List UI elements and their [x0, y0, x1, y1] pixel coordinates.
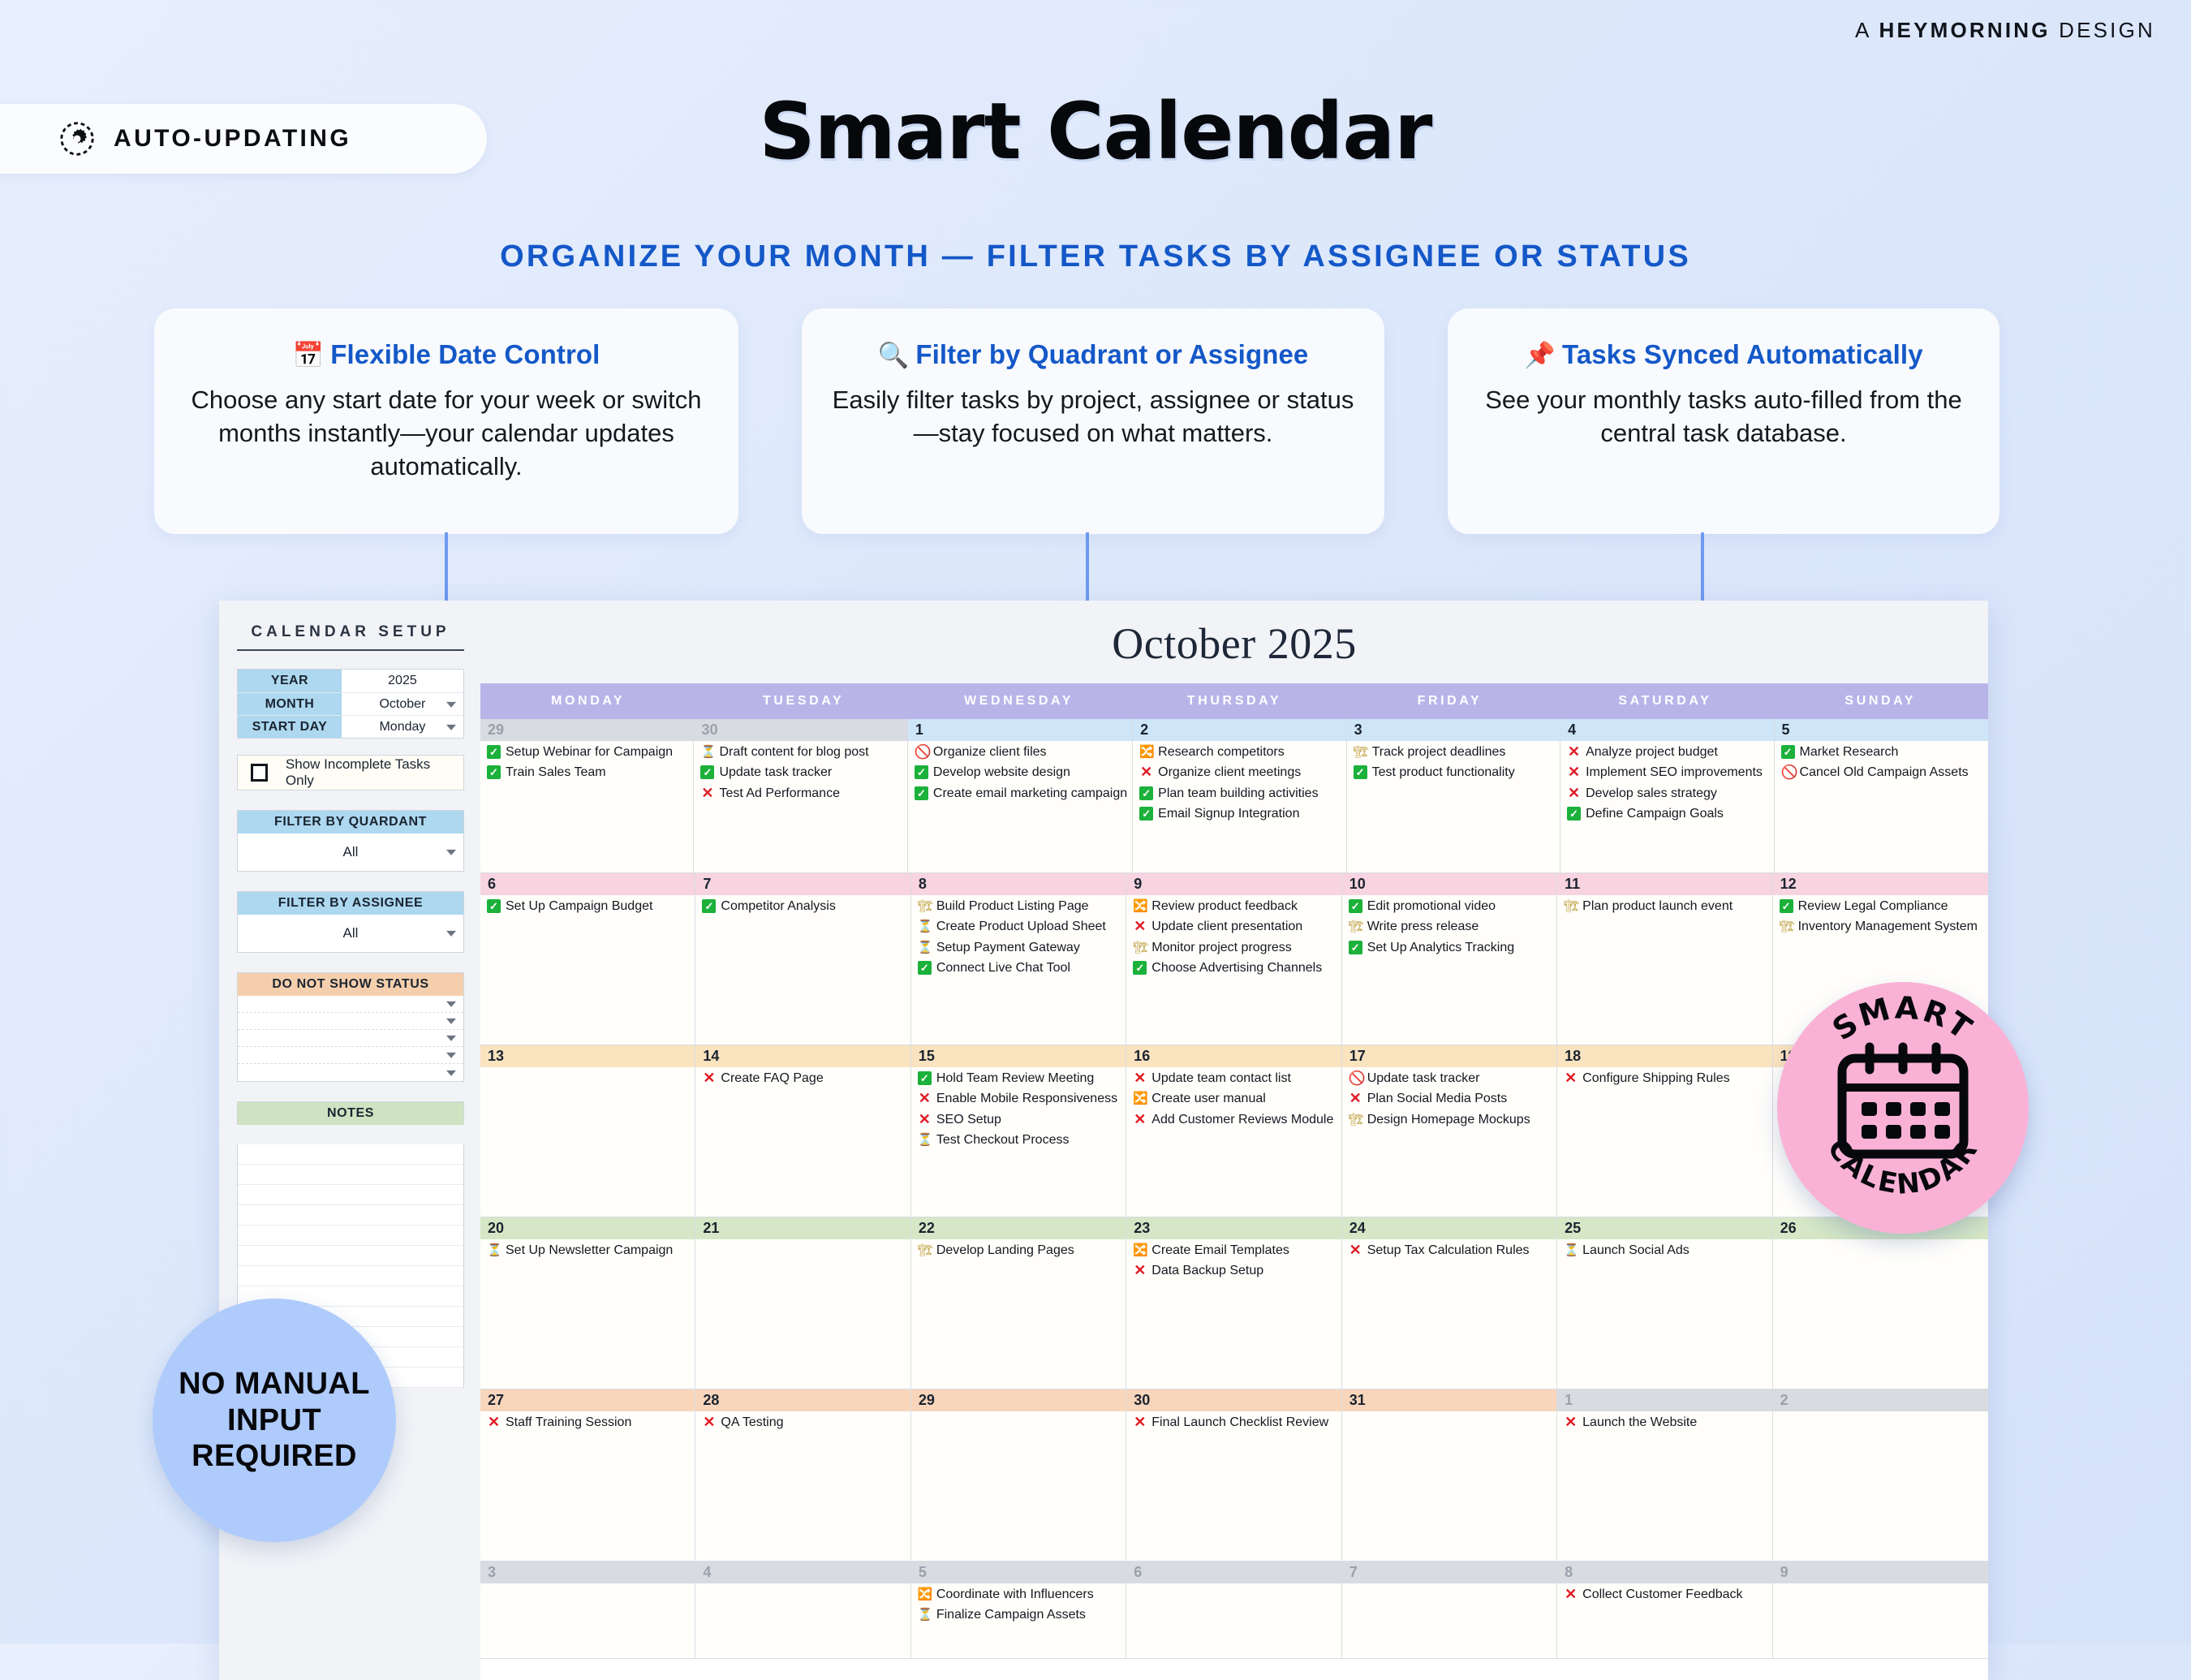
cross-icon: ✕ [1564, 1071, 1578, 1085]
calendar-day-cell[interactable]: 30✕Final Launch Checklist Review [1126, 1389, 1341, 1561]
check-icon: ✓ [1567, 807, 1581, 821]
notes-line[interactable] [238, 1246, 463, 1266]
show-incomplete-checkbox[interactable] [251, 764, 268, 782]
feature-heading-text: Tasks Synced Automatically [1562, 339, 1923, 369]
task-label: Write press release [1367, 919, 1479, 935]
task-item[interactable]: 🏗Track project deadlines [1354, 744, 1555, 760]
task-item[interactable]: ✕Plan Social Media Posts [1349, 1091, 1552, 1107]
check-icon: ✓ [915, 786, 928, 800]
page-title: Smart Calendar [0, 86, 2191, 177]
setup-value-year[interactable]: 2025 [342, 670, 463, 692]
task-item[interactable]: ✕Configure Shipping Rules [1564, 1070, 1767, 1087]
check-icon: ✓ [1139, 807, 1153, 821]
pin-icon: 📌 [1524, 341, 1556, 369]
task-item[interactable]: ✓Define Campaign Goals [1567, 806, 1768, 822]
calendar-day-cell[interactable]: 3🏗Track project deadlines✓Test product f… [1347, 719, 1560, 872]
task-label: Market Research [1800, 744, 1899, 760]
day-task-list: ✕Final Launch Checklist Review [1126, 1411, 1341, 1435]
setup-label-month: MONTH [238, 693, 342, 715]
task-item[interactable]: ✓Email Signup Integration [1139, 806, 1341, 822]
task-item[interactable]: ✓Choose Advertising Channels [1133, 960, 1336, 976]
calendar-day-cell[interactable]: 29✓Setup Webinar for Campaign✓Train Sale… [480, 719, 694, 872]
task-label: Create email marketing campaign [933, 786, 1127, 802]
task-label: Track project deadlines [1372, 744, 1506, 760]
task-label: Set Up Campaign Budget [506, 898, 652, 915]
task-item[interactable]: ⏳Test Checkout Process [918, 1132, 1121, 1148]
task-label: Update team contact list [1151, 1070, 1291, 1087]
task-item[interactable]: 🔀Create Email Templates [1133, 1243, 1336, 1259]
check-icon: ✓ [1349, 941, 1362, 954]
day-task-list: 🔀Coordinate with Influencers⏳Finalize Ca… [911, 1583, 1126, 1628]
dow-monday: MONDAY [480, 683, 695, 719]
show-incomplete-tasks-row[interactable]: Show Incomplete Tasks Only [237, 755, 464, 790]
calendar-day-cell[interactable]: 1🚫Organize client files✓Develop website … [908, 719, 1133, 872]
task-item[interactable]: ✓Setup Webinar for Campaign [487, 744, 688, 760]
day-task-list: ✓Setup Webinar for Campaign✓Train Sales … [480, 741, 693, 786]
task-item[interactable]: ✓Develop website design [915, 765, 1127, 781]
blocked-icon: 🚫 [1349, 1071, 1362, 1085]
task-item[interactable]: ✓Edit promotional video [1349, 898, 1552, 915]
task-label: Launch Social Ads [1582, 1243, 1690, 1259]
calendar-day-cell[interactable]: 5✓Market Research🚫Cancel Old Campaign As… [1775, 719, 1988, 872]
task-label: Create Email Templates [1151, 1243, 1289, 1259]
chevron-down-icon[interactable] [446, 1070, 456, 1075]
task-item[interactable]: ✓Review Legal Compliance [1780, 898, 1983, 915]
cross-icon: ✕ [918, 1092, 932, 1105]
notes-line[interactable] [238, 1185, 463, 1205]
cross-icon: ✕ [487, 1415, 501, 1429]
day-task-list: 🏗Track project deadlines✓Test product fu… [1347, 741, 1560, 786]
calendar-day-cell[interactable]: 23🔀Create Email Templates✕Data Backup Se… [1126, 1217, 1341, 1389]
notes-head: NOTES [238, 1102, 463, 1125]
cross-icon: ✕ [1567, 786, 1581, 800]
task-label: Data Backup Setup [1151, 1263, 1263, 1279]
calendar-day-cell[interactable]: 20⏳Set Up Newsletter Campaign [480, 1217, 695, 1389]
check-icon: ✓ [1349, 899, 1362, 913]
calendar-icon [1842, 1047, 1964, 1154]
task-item[interactable]: 🏗Design Homepage Mockups [1349, 1112, 1552, 1128]
setup-value-month[interactable]: October [342, 693, 463, 715]
day-task-list: ✕Launch the Website [1557, 1411, 1771, 1435]
task-item[interactable]: 🏗Build Product Listing Page [918, 898, 1121, 915]
in-progress-icon: 🔀 [1133, 899, 1147, 913]
task-label: Setup Tax Calculation Rules [1367, 1243, 1530, 1259]
day-task-list [1342, 1411, 1556, 1415]
task-item[interactable]: ✕QA Testing [702, 1415, 905, 1431]
task-label: Setup Payment Gateway [936, 940, 1080, 956]
task-item[interactable]: 🏗Inventory Management System [1780, 919, 1983, 935]
day-task-list: 🔀Review product feedback✕Update client p… [1126, 895, 1341, 981]
day-task-list: ✕Collect Customer Feedback [1557, 1583, 1771, 1607]
day-number: 15 [911, 1045, 1126, 1067]
check-icon: ✓ [1780, 899, 1793, 913]
day-number: 20 [480, 1217, 695, 1239]
brand-prefix: A [1855, 18, 1870, 42]
task-item[interactable]: ✕Develop sales strategy [1567, 786, 1768, 802]
task-item[interactable]: 🔀Coordinate with Influencers [918, 1587, 1121, 1603]
calendar-day-cell[interactable]: 28✕QA Testing [695, 1389, 910, 1561]
task-item[interactable]: ✓Connect Live Chat Tool [918, 960, 1121, 976]
task-item[interactable]: ✕Test Ad Performance [700, 786, 902, 802]
task-item[interactable]: 🚫Cancel Old Campaign Assets [1781, 765, 1983, 781]
day-number: 3 [1347, 719, 1560, 741]
task-item[interactable]: ✕Enable Mobile Responsiveness [918, 1091, 1121, 1107]
day-number: 4 [1560, 719, 1773, 741]
notes-line[interactable] [238, 1205, 463, 1226]
task-item[interactable]: ✓Set Up Analytics Tracking [1349, 940, 1552, 956]
status-row[interactable] [238, 996, 463, 1013]
day-number: 8 [911, 873, 1126, 895]
task-item[interactable]: 🏗Plan product launch event [1564, 898, 1767, 915]
task-item[interactable]: ✕Setup Tax Calculation Rules [1349, 1243, 1552, 1259]
setup-label-year: YEAR [238, 670, 342, 692]
feature-card-heading: 🔍Filter by Quadrant or Assignee [829, 339, 1357, 370]
day-number: 24 [1342, 1217, 1556, 1239]
feature-cards: 📅Flexible Date Control Choose any start … [154, 308, 1999, 534]
filter-quadrant-value[interactable]: All [238, 834, 463, 871]
cross-icon: ✕ [1349, 1243, 1362, 1257]
day-task-list: ✕QA Testing [695, 1411, 910, 1435]
day-number: 16 [1126, 1045, 1341, 1067]
task-item[interactable]: 🔀Review product feedback [1133, 898, 1336, 915]
feature-card-heading: 📅Flexible Date Control [182, 339, 711, 370]
calendar-day-cell[interactable]: 9 [1773, 1562, 1988, 1658]
calendar-month-title: October 2025 [480, 601, 1988, 683]
day-number: 5 [911, 1562, 1126, 1583]
calendar-icon: 📅 [293, 341, 325, 369]
brand-name: HEYMORNING [1879, 18, 2051, 42]
check-icon: ✓ [1139, 786, 1153, 800]
task-item[interactable]: 🏗Develop Landing Pages [918, 1243, 1121, 1259]
calendar-day-cell[interactable]: 4 [695, 1562, 910, 1658]
notes-line[interactable] [238, 1226, 463, 1246]
check-icon: ✓ [487, 745, 501, 759]
task-label: Edit promotional video [1367, 898, 1496, 915]
feature-card-body: Easily filter tasks by project, assignee… [829, 383, 1357, 450]
task-item[interactable]: 🚫Organize client files [915, 744, 1127, 760]
calendar-day-cell[interactable]: 4✕Analyze project budget✕Implement SEO i… [1560, 719, 1774, 872]
calendar-day-cell[interactable]: 8🏗Build Product Listing Page⏳Create Prod… [911, 873, 1126, 1045]
chevron-down-icon[interactable] [446, 1053, 456, 1058]
calendar-week-row: 1314✕Create FAQ Page15✓Hold Team Review … [480, 1045, 1988, 1217]
waiting-icon: ⏳ [1564, 1243, 1578, 1257]
smart-calendar-seal: SMART CALENDAR [1777, 982, 2029, 1234]
day-number: 9 [1773, 1562, 1988, 1583]
day-number: 18 [1557, 1045, 1771, 1067]
calendar-day-cell[interactable]: 7✓Competitor Analysis [695, 873, 910, 1045]
task-item[interactable]: ✕Collect Customer Feedback [1564, 1587, 1767, 1603]
cross-icon: ✕ [1564, 1415, 1578, 1429]
task-item[interactable]: ✕Create FAQ Page [702, 1070, 905, 1087]
calendar-day-cell[interactable]: 2🔀Research competitors✕Organize client m… [1133, 719, 1346, 872]
day-task-list: ✕Update team contact list🔀Create user ma… [1126, 1067, 1341, 1132]
task-item[interactable]: ✕Add Customer Reviews Module [1133, 1112, 1336, 1128]
day-number: 11 [1557, 873, 1771, 895]
day-task-list: 🏗Develop Landing Pages [911, 1239, 1126, 1263]
task-item[interactable]: ✕Final Launch Checklist Review [1133, 1415, 1336, 1431]
day-number: 1 [1557, 1389, 1771, 1411]
task-label: QA Testing [721, 1415, 783, 1431]
day-number: 14 [695, 1045, 910, 1067]
check-icon: ✓ [700, 765, 714, 779]
day-task-list: ✓Market Research🚫Cancel Old Campaign Ass… [1775, 741, 1988, 786]
day-task-list: ✓Set Up Campaign Budget [480, 895, 695, 919]
calendar-day-cell[interactable]: 21 [695, 1217, 910, 1389]
check-icon: ✓ [487, 899, 501, 913]
page-subtitle: ORGANIZE YOUR MONTH — FILTER TASKS BY AS… [0, 239, 2191, 274]
day-number: 7 [1342, 1562, 1556, 1583]
calendar-day-cell[interactable]: 2 [1773, 1389, 1988, 1561]
check-icon: ✓ [1133, 961, 1147, 975]
calendar-day-cell[interactable]: 31 [1342, 1389, 1557, 1561]
task-label: Update client presentation [1151, 919, 1302, 935]
in-progress-icon: 🔀 [1139, 745, 1153, 759]
task-label: Review Legal Compliance [1798, 898, 1948, 915]
cross-icon: ✕ [918, 1113, 932, 1126]
chevron-down-icon[interactable] [446, 850, 456, 855]
task-label: Develop website design [933, 765, 1070, 781]
task-item[interactable]: ✓Create email marketing campaign [915, 786, 1127, 802]
day-number: 22 [911, 1217, 1126, 1239]
setup-fields: YEAR 2025 MONTH October START DAY Monday [237, 669, 464, 739]
waiting-icon: ⏳ [918, 1133, 932, 1147]
cross-icon: ✕ [1133, 1113, 1147, 1126]
task-label: Test Checkout Process [936, 1132, 1070, 1148]
day-task-list [911, 1411, 1126, 1415]
task-label: Set Up Analytics Tracking [1367, 940, 1514, 956]
setup-row-year: YEAR 2025 [238, 670, 463, 692]
task-item[interactable]: 🔀Create user manual [1133, 1091, 1336, 1107]
check-icon: ✓ [1781, 745, 1795, 759]
task-label: Plan product launch event [1582, 898, 1733, 915]
calendar-day-cell[interactable]: 3 [480, 1562, 695, 1658]
task-item[interactable]: ⏳Setup Payment Gateway [918, 940, 1121, 956]
calendar-week-row: 29✓Setup Webinar for Campaign✓Train Sale… [480, 719, 1988, 873]
status-row[interactable] [238, 1030, 463, 1047]
filter-assignee-value[interactable]: All [238, 915, 463, 952]
task-label: Cancel Old Campaign Assets [1800, 765, 1969, 781]
task-item[interactable]: ⏳Draft content for blog post [700, 744, 902, 760]
task-item[interactable]: ⏳Finalize Campaign Assets [918, 1607, 1121, 1623]
day-task-list: ✕Create FAQ Page [695, 1067, 910, 1091]
day-task-list: ✕Configure Shipping Rules [1557, 1067, 1771, 1091]
cross-icon: ✕ [1349, 1092, 1362, 1105]
calendar-day-cell[interactable]: 7 [1342, 1562, 1557, 1658]
check-icon: ✓ [918, 1071, 932, 1085]
svg-text:SMART: SMART [1826, 989, 1980, 1047]
check-icon: ✓ [918, 961, 932, 975]
calendar-day-cell[interactable]: 8✕Collect Customer Feedback [1557, 1562, 1772, 1658]
badge-line-2: INPUT [227, 1402, 321, 1439]
task-item[interactable]: 🔀Research competitors [1139, 744, 1341, 760]
task-item[interactable]: ✓Update task tracker [700, 765, 902, 781]
calendar-day-cell[interactable]: 26 [1773, 1217, 1988, 1389]
calendar-day-cell[interactable]: 24✕Setup Tax Calculation Rules [1342, 1217, 1557, 1389]
check-icon: ✓ [1354, 765, 1367, 779]
chevron-down-icon[interactable] [446, 931, 456, 937]
cross-icon: ✕ [702, 1071, 716, 1085]
task-label: Build Product Listing Page [936, 898, 1089, 915]
calendar-day-cell[interactable]: 6 [1126, 1562, 1341, 1658]
chevron-down-icon[interactable] [446, 1036, 456, 1041]
in-progress-icon: 🔀 [1133, 1092, 1147, 1105]
calendar-day-cell[interactable]: 17🚫Update task tracker✕Plan Social Media… [1342, 1045, 1557, 1217]
filter-by-assignee: FILTER BY ASSIGNEE All [237, 891, 464, 953]
task-item[interactable]: ⏳Set Up Newsletter Campaign [487, 1243, 690, 1259]
task-label: Create Product Upload Sheet [936, 919, 1106, 935]
calendar-day-cell[interactable]: 27✕Staff Training Session [480, 1389, 695, 1561]
notes-line[interactable] [238, 1266, 463, 1286]
task-label: Organize client meetings [1158, 765, 1301, 781]
calendar-day-cell[interactable]: 11🏗Plan product launch event [1557, 873, 1772, 1045]
day-task-list [1342, 1583, 1556, 1587]
task-label: Train Sales Team [506, 765, 606, 781]
day-number: 6 [480, 873, 695, 895]
dow-wednesday: WEDNESDAY [911, 683, 1126, 719]
task-item[interactable]: ✕Implement SEO improvements [1567, 765, 1768, 781]
feature-card-body: Choose any start date for your week or s… [182, 383, 711, 484]
task-item[interactable]: ✕Update team contact list [1133, 1070, 1336, 1087]
day-task-list: ✓Review Legal Compliance🏗Inventory Manag… [1773, 895, 1988, 940]
chevron-down-icon[interactable] [446, 1019, 456, 1024]
day-task-list: 🚫Organize client files✓Develop website d… [908, 741, 1132, 806]
task-item[interactable]: ✕Staff Training Session [487, 1415, 690, 1431]
badge-line-1: NO MANUAL [179, 1366, 370, 1402]
task-label: Email Signup Integration [1158, 806, 1299, 822]
task-label: Plan Social Media Posts [1367, 1091, 1508, 1107]
day-task-list: ✕Setup Tax Calculation Rules [1342, 1239, 1556, 1263]
cross-icon: ✕ [1567, 765, 1581, 779]
calendar-day-cell[interactable]: 13 [480, 1045, 695, 1217]
calendar-day-cell[interactable]: 18✕Configure Shipping Rules [1557, 1045, 1772, 1217]
task-item[interactable]: ✕Analyze project budget [1567, 744, 1768, 760]
notes-line[interactable] [238, 1165, 463, 1185]
task-item[interactable]: ✓Market Research [1781, 744, 1983, 760]
calendar-day-cell[interactable]: 25⏳Launch Social Ads [1557, 1217, 1772, 1389]
status-row[interactable] [238, 1064, 463, 1081]
filter-assignee-text: All [343, 925, 359, 941]
task-item[interactable]: ⏳Launch Social Ads [1564, 1243, 1767, 1259]
calendar-day-cell[interactable]: 1✕Launch the Website [1557, 1389, 1772, 1561]
task-item[interactable]: ✕Update client presentation [1133, 919, 1336, 935]
sidebar-title: CALENDAR SETUP [237, 623, 464, 651]
setup-row-start-day: START DAY Monday [238, 715, 463, 738]
status-row[interactable] [238, 1013, 463, 1030]
calendar-day-cell[interactable]: 9🔀Review product feedback✕Update client … [1126, 873, 1341, 1045]
task-item[interactable]: ✓Set Up Campaign Budget [487, 898, 690, 915]
calendar-day-cell[interactable]: 6✓Set Up Campaign Budget [480, 873, 695, 1045]
task-label: Implement SEO improvements [1586, 765, 1763, 781]
day-number: 9 [1126, 873, 1341, 895]
day-task-list: ✕Staff Training Session [480, 1411, 695, 1435]
status-row[interactable] [238, 1047, 463, 1064]
filter-quadrant-head: FILTER BY QUARDANT [238, 811, 463, 834]
chevron-down-icon[interactable] [446, 724, 456, 730]
task-label: Inventory Management System [1798, 919, 1978, 935]
calendar-day-cell[interactable]: 30⏳Draft content for blog post✓Update ta… [694, 719, 907, 872]
task-label: Connect Live Chat Tool [936, 960, 1070, 976]
task-label: Plan team building activities [1158, 786, 1318, 802]
notes-line[interactable] [238, 1144, 463, 1165]
task-item[interactable]: 🏗Write press release [1349, 919, 1552, 935]
day-number: 12 [1773, 873, 1988, 895]
day-number: 8 [1557, 1562, 1771, 1583]
month-value: October [379, 697, 425, 712]
day-number: 13 [480, 1045, 695, 1067]
day-number: 31 [1342, 1389, 1556, 1411]
cross-icon: ✕ [1133, 1071, 1147, 1085]
task-label: Configure Shipping Rules [1582, 1070, 1729, 1087]
day-number: 27 [480, 1389, 695, 1411]
task-label: Test product functionality [1372, 765, 1515, 781]
task-item[interactable]: ✓Hold Team Review Meeting [918, 1070, 1121, 1087]
task-item[interactable]: ✓Plan team building activities [1139, 786, 1341, 802]
cross-icon: ✕ [1133, 1264, 1147, 1277]
calendar-day-cell[interactable]: 29 [911, 1389, 1126, 1561]
task-item[interactable]: ✓Competitor Analysis [702, 898, 905, 915]
task-item[interactable]: 🚫Update task tracker [1349, 1070, 1552, 1087]
task-item[interactable]: 🏗Monitor project progress [1133, 940, 1336, 956]
day-number: 29 [480, 719, 693, 741]
task-label: Add Customer Reviews Module [1151, 1112, 1333, 1128]
chevron-down-icon[interactable] [446, 1002, 456, 1007]
calendar-day-cell[interactable]: 10✓Edit promotional video🏗Write press re… [1342, 873, 1557, 1045]
task-item[interactable]: ⏳Create Product Upload Sheet [918, 919, 1121, 935]
dow-saturday: SATURDAY [1557, 683, 1772, 719]
task-label: Design Homepage Mockups [1367, 1112, 1530, 1128]
day-task-list: ✕Analyze project budget✕Implement SEO im… [1560, 741, 1773, 827]
feature-heading-text: Flexible Date Control [330, 339, 600, 369]
calendar-day-cell[interactable]: 14✕Create FAQ Page [695, 1045, 910, 1217]
calendar-day-cell[interactable]: 5🔀Coordinate with Influencers⏳Finalize C… [911, 1562, 1126, 1658]
task-item[interactable]: ✕Data Backup Setup [1133, 1263, 1336, 1279]
filter-by-quadrant: FILTER BY QUARDANT All [237, 810, 464, 872]
in-progress-icon: 🔀 [1133, 1243, 1147, 1257]
day-task-list [480, 1583, 695, 1587]
setup-value-start-day[interactable]: Monday [342, 716, 463, 738]
day-task-list [695, 1239, 910, 1243]
cross-icon: ✕ [702, 1415, 716, 1429]
day-task-list: ✓Hold Team Review Meeting✕Enable Mobile … [911, 1067, 1126, 1153]
calendar-day-cell[interactable]: 22🏗Develop Landing Pages [911, 1217, 1126, 1389]
day-task-list: 🔀Research competitors✕Organize client me… [1133, 741, 1345, 827]
task-item[interactable]: ✓Test product functionality [1354, 765, 1555, 781]
task-item[interactable]: ✕Organize client meetings [1139, 765, 1341, 781]
day-task-list: ⏳Launch Social Ads [1557, 1239, 1771, 1263]
year-value: 2025 [388, 674, 417, 688]
chevron-down-icon[interactable] [446, 701, 456, 707]
feature-heading-text: Filter by Quadrant or Assignee [915, 339, 1308, 369]
calendar-day-cell[interactable]: 15✓Hold Team Review Meeting✕Enable Mobil… [911, 1045, 1126, 1217]
cross-icon: ✕ [1139, 765, 1153, 779]
blocked-icon: 🚫 [915, 745, 928, 759]
day-task-list [1773, 1411, 1988, 1415]
day-number: 21 [695, 1217, 910, 1239]
feature-card-body: See your monthly tasks auto-filled from … [1475, 383, 1972, 450]
task-label: Hold Team Review Meeting [936, 1070, 1094, 1087]
do-not-show-status: DO NOT SHOW STATUS [237, 972, 464, 1082]
day-task-list: 🏗Build Product Listing Page⏳Create Produ… [911, 895, 1126, 981]
task-label: Test Ad Performance [719, 786, 840, 802]
task-item[interactable]: ✕Launch the Website [1564, 1415, 1767, 1431]
day-task-list [695, 1583, 910, 1587]
task-item[interactable]: ✓Train Sales Team [487, 765, 688, 781]
cross-icon: ✕ [1133, 920, 1147, 933]
task-item[interactable]: ✕SEO Setup [918, 1112, 1121, 1128]
calendar-day-cell[interactable]: 16✕Update team contact list🔀Create user … [1126, 1045, 1341, 1217]
calendar-week-row: 27✕Staff Training Session28✕QA Testing29… [480, 1389, 1988, 1562]
search-icon: 🔍 [878, 341, 910, 369]
